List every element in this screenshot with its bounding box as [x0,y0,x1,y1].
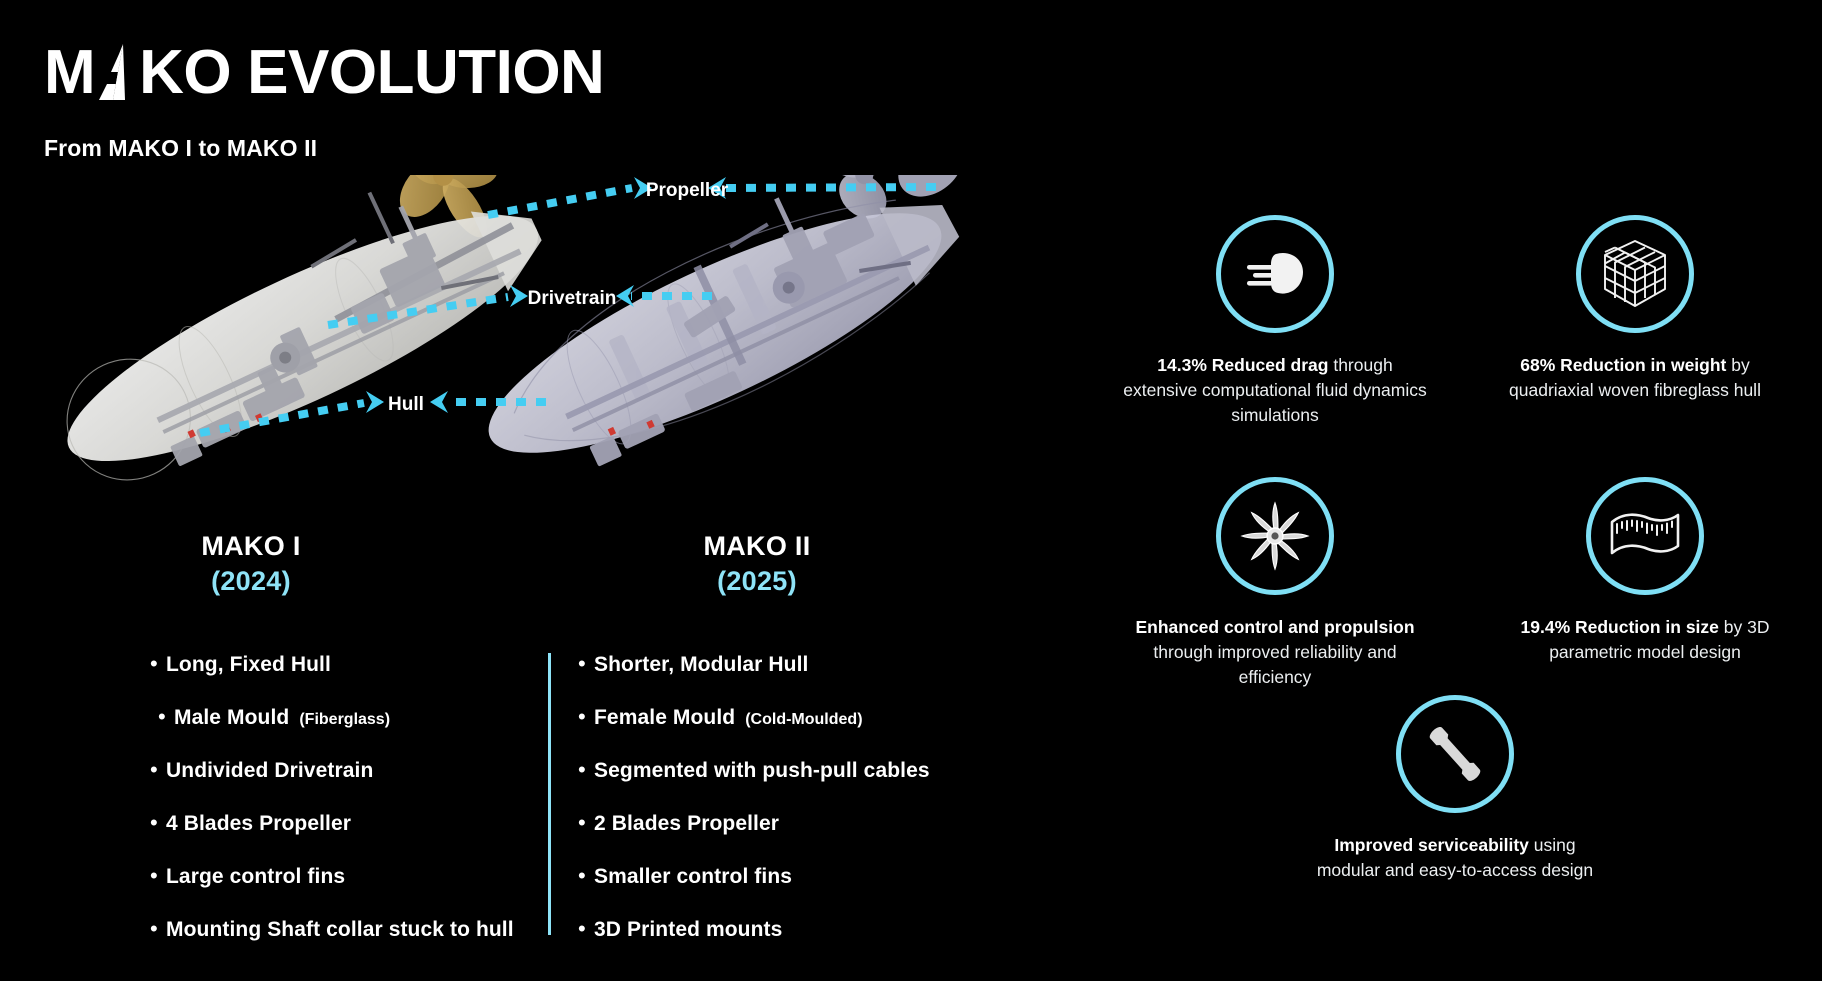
list-item: •Shorter, Modular Hull [578,650,1018,681]
measuring-tape-icon [1586,477,1704,595]
feature-highlights: 14.3% Reduced drag through extensive com… [1110,215,1810,935]
list-item: •3D Printed mounts [578,915,1018,946]
feature-card-enhanced-control: Enhanced control and propulsion through … [1115,477,1435,690]
model-caption-mako-1: MAKO I (2024) [131,529,371,599]
page-title: M KO EVOLUTION [44,42,604,104]
fibre-cube-icon [1576,215,1694,333]
wind-drag-icon [1216,215,1334,333]
list-item: •Long, Fixed Hull [150,650,530,681]
list-item-text: 3D Printed mounts [594,918,782,941]
title-segment-evolution: EVOLUTION [247,42,604,104]
feature-card-improved-serviceability: Improved serviceability using modular an… [1295,695,1615,883]
model-year-mako-2: (2025) [637,563,877,599]
list-item: •Male Mould(Fiberglass) [150,703,530,734]
list-item: •Female Mould(Cold-Moulded) [578,703,1018,734]
feature-text: 19.4% Reduction in size by 3D parametric… [1485,615,1805,665]
model-year-mako-1: (2024) [131,563,371,599]
list-item-note: (Fiberglass) [299,711,390,728]
list-item-text: Male Mould [174,706,289,729]
feature-text: 68% Reduction in weight by quadriaxial w… [1475,353,1795,403]
mako-1-model [3,175,563,505]
bullet-dot-icon: • [578,862,594,890]
comparison-diagram: Propeller Drivetrain Hull [0,175,1080,535]
bullet-dot-icon: • [150,809,166,837]
connector-label-propeller: Propeller [646,180,729,201]
bullet-dot-icon: • [578,756,594,784]
list-item-text: Undivided Drivetrain [166,759,373,782]
connector-label-drivetrain: Drivetrain [528,288,617,309]
bullet-dot-icon: • [150,650,166,678]
list-item-text: Segmented with push-pull cables [594,759,930,782]
header: M KO EVOLUTION From MAKO I to MAKO II [44,42,604,162]
feature-text: Improved serviceability using modular an… [1295,833,1615,883]
feature-card-reduced-drag: 14.3% Reduced drag through extensive com… [1115,215,1435,428]
bullet-dot-icon: • [150,756,166,784]
list-item: •4 Blades Propeller [150,809,530,840]
model-caption-mako-2: MAKO II (2025) [637,529,877,599]
bullet-dot-icon: • [578,703,594,731]
list-item-text: Shorter, Modular Hull [594,653,808,676]
list-item-text: 4 Blades Propeller [166,812,351,835]
list-item-text: Long, Fixed Hull [166,653,331,676]
list-item: •Large control fins [150,862,530,893]
bullet-dot-icon: • [158,703,174,731]
feature-highlight: Improved serviceability [1334,835,1529,855]
bullet-column-mako-2: •Shorter, Modular Hull •Female Mould(Col… [578,650,1018,968]
model-name-mako-1: MAKO I [131,529,371,563]
list-item: •Smaller control fins [578,862,1018,893]
title-segment-ko: KO [139,42,231,104]
feature-card-reduced-weight: 68% Reduction in weight by quadriaxial w… [1475,215,1795,403]
column-divider [548,653,551,935]
bullet-dot-icon: • [578,809,594,837]
page-subtitle: From MAKO I to MAKO II [44,135,604,162]
feature-text: 14.3% Reduced drag through extensive com… [1115,353,1435,428]
feature-highlight: 19.4% Reduction in size [1521,617,1719,637]
list-item-text: Mounting Shaft collar stuck to hull [166,918,514,941]
bullet-dot-icon: • [578,650,594,678]
shark-fin-a-icon [95,42,139,104]
comparison-bullets: •Long, Fixed Hull •Male Mould(Fiberglass… [0,650,1080,950]
feature-text: Enhanced control and propulsion through … [1115,615,1435,690]
feature-card-reduced-size: 19.4% Reduction in size by 3D parametric… [1485,477,1805,665]
model-name-mako-2: MAKO II [637,529,877,563]
bullet-column-mako-1: •Long, Fixed Hull •Male Mould(Fiberglass… [150,650,530,968]
list-item-note: (Cold-Moulded) [745,711,862,728]
list-item-text: 2 Blades Propeller [594,812,779,835]
list-item-text: Smaller control fins [594,865,792,888]
feature-highlight: 68% Reduction in weight [1520,355,1726,375]
feature-highlight: Enhanced control and propulsion [1135,617,1414,637]
list-item: •Mounting Shaft collar stuck to hull [150,915,530,946]
list-item: •Segmented with push-pull cables [578,756,1018,787]
list-item: •Undivided Drivetrain [150,756,530,787]
title-segment-m: M [44,42,95,104]
feature-rest: through improved reliability and efficie… [1153,642,1396,687]
connector-label-hull: Hull [388,394,424,415]
bullet-dot-icon: • [150,915,166,943]
list-item-text: Female Mould [594,706,735,729]
bullet-dot-icon: • [150,862,166,890]
list-item: •2 Blades Propeller [578,809,1018,840]
list-item-text: Large control fins [166,865,345,888]
wrench-icon [1396,695,1514,813]
bullet-dot-icon: • [578,915,594,943]
propeller-turbine-icon [1216,477,1334,595]
feature-highlight: 14.3% Reduced drag [1157,355,1328,375]
